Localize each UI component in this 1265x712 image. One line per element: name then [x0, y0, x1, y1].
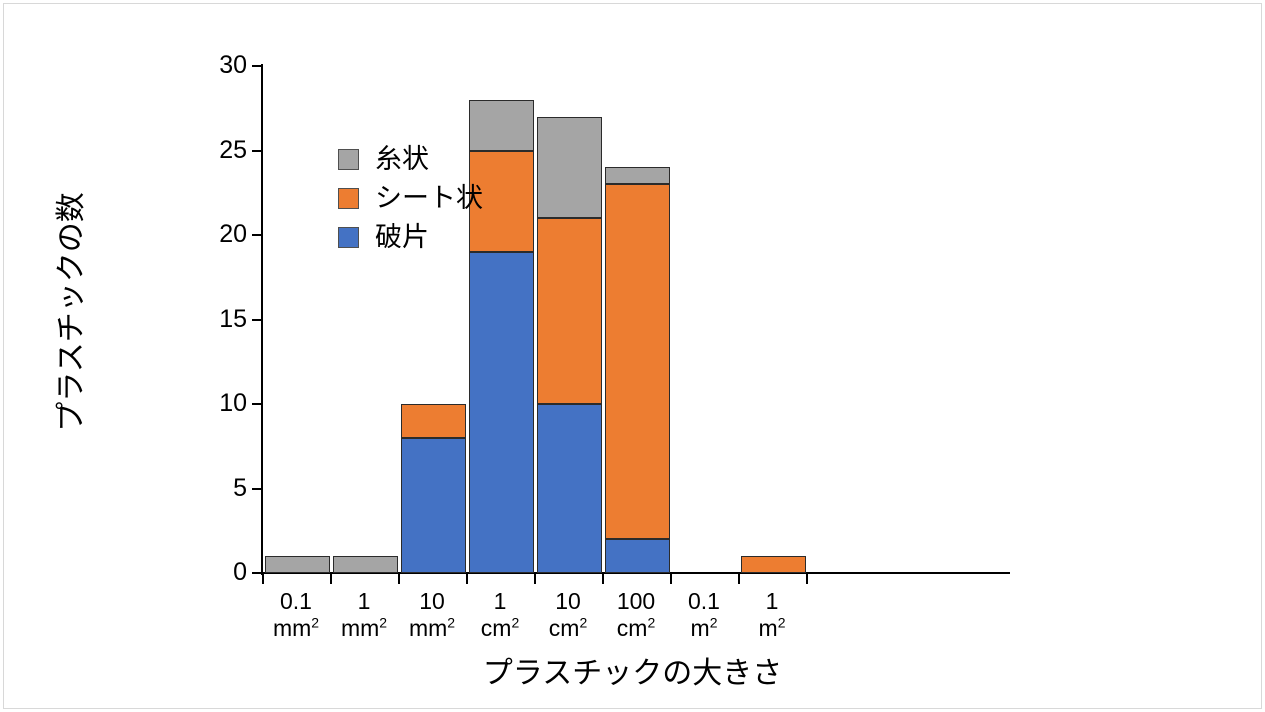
bar-segment[interactable] [401, 438, 466, 573]
y-tick-label: 20 [219, 222, 247, 247]
legend-item[interactable]: 破片 [338, 218, 483, 257]
legend-item[interactable]: 糸状 [338, 140, 483, 179]
bar-segment[interactable] [537, 218, 602, 404]
chart-figure: プラスチックの数 プラスチックの大きさ 051015202530 0.1mm21… [0, 0, 1265, 712]
legend-label: 糸状 [375, 146, 429, 173]
x-tick-mark [330, 574, 332, 584]
x-tick-mark [466, 574, 468, 584]
y-axis-title: プラスチックの数 [46, 102, 90, 522]
legend-label: 破片 [375, 224, 429, 251]
y-tick-mark [252, 150, 261, 152]
x-tick-mark [534, 574, 536, 584]
y-tick-mark [252, 234, 261, 236]
x-axis-title: プラスチックの大きさ [0, 648, 1265, 692]
x-tick-mark [398, 574, 400, 584]
bar-segment[interactable] [605, 184, 670, 539]
bar-stack[interactable] [537, 66, 602, 573]
legend-swatch-icon [338, 188, 359, 209]
legend-swatch-icon [338, 227, 359, 248]
y-tick-mark [252, 65, 261, 67]
chart-legend: 糸状シート状破片 [338, 140, 483, 257]
x-tick-mark [806, 574, 808, 584]
y-tick-label: 0 [233, 560, 247, 585]
x-tick-mark [602, 574, 604, 584]
y-tick-mark [252, 488, 261, 490]
x-tick-mark [670, 574, 672, 584]
bar-segment[interactable] [605, 539, 670, 573]
bar-stack[interactable] [673, 66, 738, 573]
x-tick-label-unit: m2 [727, 615, 817, 642]
y-tick-mark [252, 572, 261, 574]
bar-segment[interactable] [537, 404, 602, 573]
x-tick-mark [738, 574, 740, 584]
bar-stack[interactable] [605, 66, 670, 573]
bar-stack[interactable] [741, 66, 806, 573]
bar-segment[interactable] [401, 404, 466, 438]
bar-segment[interactable] [265, 556, 330, 573]
bar-segment[interactable] [469, 252, 534, 573]
bar-segment[interactable] [605, 167, 670, 184]
x-tick-label-value: 1 [727, 588, 817, 615]
bar-segment[interactable] [333, 556, 398, 573]
y-tick-label: 15 [219, 307, 247, 332]
y-tick-label: 5 [233, 476, 247, 501]
bar-segment[interactable] [741, 556, 806, 573]
y-tick-label: 10 [219, 391, 247, 416]
bar-stack[interactable] [265, 66, 330, 573]
bar-segment[interactable] [537, 117, 602, 218]
legend-swatch-icon [338, 149, 359, 170]
y-tick-label: 30 [219, 53, 247, 78]
legend-item[interactable]: シート状 [338, 179, 483, 218]
y-tick-mark [252, 403, 261, 405]
y-tick-label: 25 [219, 138, 247, 163]
legend-label: シート状 [375, 185, 483, 212]
y-tick-mark [252, 319, 261, 321]
x-tick-mark [262, 574, 264, 584]
x-tick-label: 1m2 [727, 588, 817, 642]
